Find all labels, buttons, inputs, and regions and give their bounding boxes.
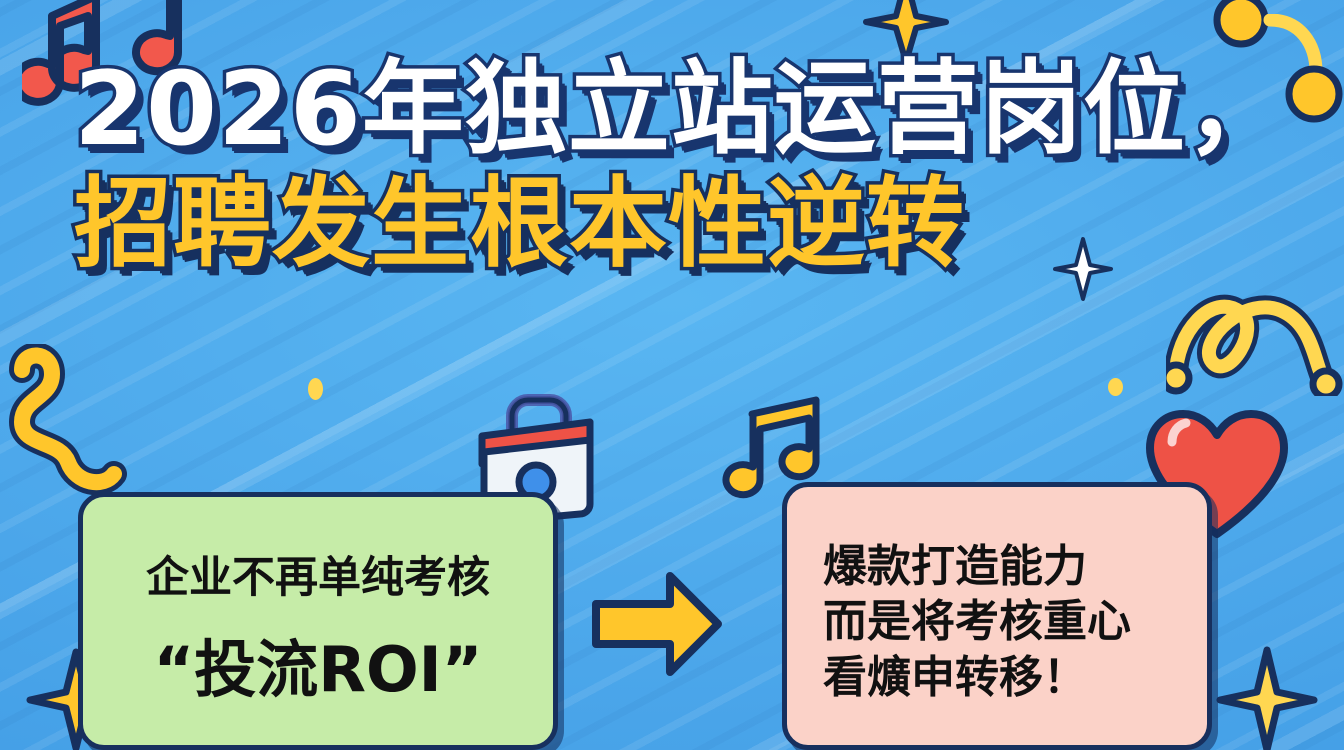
dot-icon (1208, 0, 1274, 48)
right-bubble-line-2: 而是将考核重心 (793, 594, 1131, 649)
left-bubble-line-1: 企业不再单纯考核 (146, 543, 490, 605)
right-bubble-line-3: 看爌申转移！ (793, 650, 1087, 705)
arrow-right-icon (592, 568, 722, 680)
sparkle-icon (1216, 646, 1318, 750)
squiggle-icon (1166, 278, 1344, 396)
right-bubble-line-1: 爆款打造能力 (793, 539, 1087, 594)
title-line-2: 招聘发生根本性逆转 (74, 172, 1344, 278)
left-callout-bubble: 企业不再单纯考核 “投流ROI” (78, 492, 558, 750)
confetti-dot (1108, 378, 1123, 396)
poster-canvas: 2026年独立站运营岗位， 招聘发生根本性逆转 企业不再单纯考核 “投流ROI”… (0, 0, 1344, 750)
left-bubble-line-2: “投流ROI” (153, 619, 482, 709)
title-line-1: 2026年独立站运营岗位， (74, 56, 1344, 164)
right-callout-bubble: 爆款打造能力 而是将考核重心 看爌申转移！ (782, 482, 1212, 750)
confetti-dot (308, 378, 323, 400)
squiggle-icon (8, 344, 188, 512)
poster-title: 2026年独立站运营岗位， 招聘发生根本性逆转 (0, 56, 1344, 278)
